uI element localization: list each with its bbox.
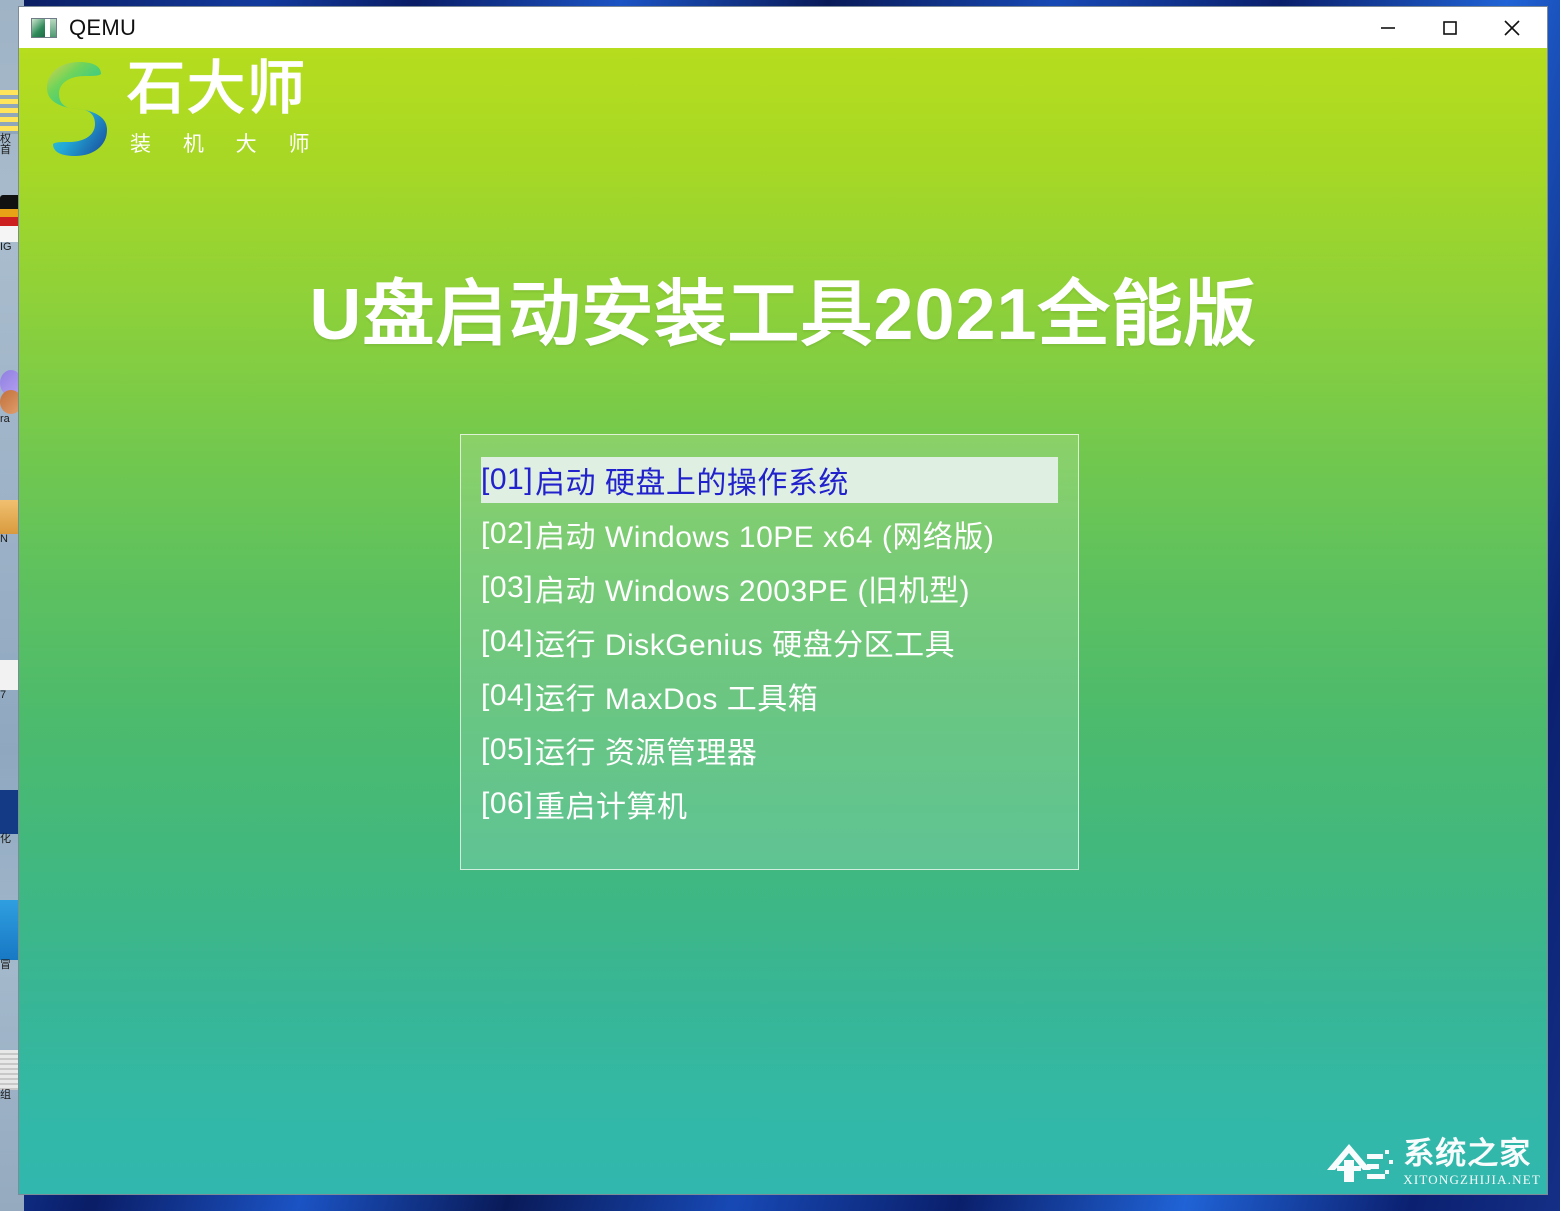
menu-item-04-maxdos[interactable]: [04] 运行 MaxDos 工具箱 (481, 673, 1058, 719)
menu-item-05[interactable]: [05] 运行 资源管理器 (481, 727, 1058, 773)
menu-item-02[interactable]: [02] 启动 Windows 10PE x64 (网络版) (481, 511, 1058, 557)
page-title: U盘启动安装工具2021全能版 (19, 255, 1547, 360)
menu-item-index: [04] (481, 625, 533, 659)
watermark-en: XITONGZHIJIA.NET (1403, 1172, 1541, 1188)
menu-item-index: [03] (481, 571, 533, 605)
maximize-button[interactable] (1419, 7, 1481, 48)
brand-name: 石大师 (127, 60, 323, 118)
menu-item-index: [04] (481, 679, 533, 713)
boot-menu-box: [01] 启动 硬盘上的操作系统 [02] 启动 Windows 10PE x6… (460, 434, 1079, 870)
menu-item-index: [05] (481, 733, 533, 767)
close-icon (1500, 16, 1524, 40)
menu-item-label: 运行 资源管理器 (535, 728, 757, 772)
watermark-text: 系统之家 XITONGZHIJIA.NET (1403, 1138, 1541, 1188)
qemu-window: QEMU (18, 6, 1548, 1195)
menu-item-label: 启动 Windows 10PE x64 (网络版) (535, 512, 994, 556)
vm-display[interactable]: 石大师 装 机 大 师 U盘启动安装工具2021全能版 [01] 启动 硬盘上的… (19, 48, 1547, 1194)
menu-item-index: [06] (481, 787, 533, 821)
window-controls (1357, 7, 1543, 48)
watermark: 系统之家 XITONGZHIJIA.NET (1323, 1130, 1541, 1192)
menu-item-label: 运行 DiskGenius 硬盘分区工具 (535, 620, 955, 664)
menu-item-index: [02] (481, 517, 533, 551)
menu-item-06[interactable]: [06] 重启计算机 (481, 781, 1058, 827)
menu-item-04-diskgenius[interactable]: [04] 运行 DiskGenius 硬盘分区工具 (481, 619, 1058, 665)
menu-item-label: 启动 硬盘上的操作系统 (535, 458, 849, 502)
menu-item-index: [01] (481, 463, 533, 497)
minimize-icon (1377, 17, 1399, 39)
brand-subtitle: 装 机 大 师 (130, 128, 323, 158)
brand-text: 石大师 装 机 大 师 (127, 60, 323, 158)
menu-item-01[interactable]: [01] 启动 硬盘上的操作系统 (481, 457, 1058, 503)
brand-logo: 石大师 装 机 大 师 (41, 60, 323, 158)
menu-item-label: 重启计算机 (535, 782, 688, 826)
maximize-icon (1439, 17, 1461, 39)
close-button[interactable] (1481, 7, 1543, 48)
menu-item-label: 运行 MaxDos 工具箱 (535, 674, 818, 718)
shi-dashi-s-logo-icon (41, 60, 113, 158)
menu-item-label: 启动 Windows 2003PE (旧机型) (535, 566, 970, 610)
window-titlebar[interactable]: QEMU (19, 7, 1547, 48)
xitongzhijia-logo-icon (1323, 1130, 1397, 1192)
menu-item-03[interactable]: [03] 启动 Windows 2003PE (旧机型) (481, 565, 1058, 611)
window-title: QEMU (69, 15, 136, 41)
watermark-cn: 系统之家 (1403, 1138, 1531, 1169)
boot-menu-list: [01] 启动 硬盘上的操作系统 [02] 启动 Windows 10PE x6… (461, 435, 1078, 827)
minimize-button[interactable] (1357, 7, 1419, 48)
qemu-monitor-icon (31, 18, 57, 38)
